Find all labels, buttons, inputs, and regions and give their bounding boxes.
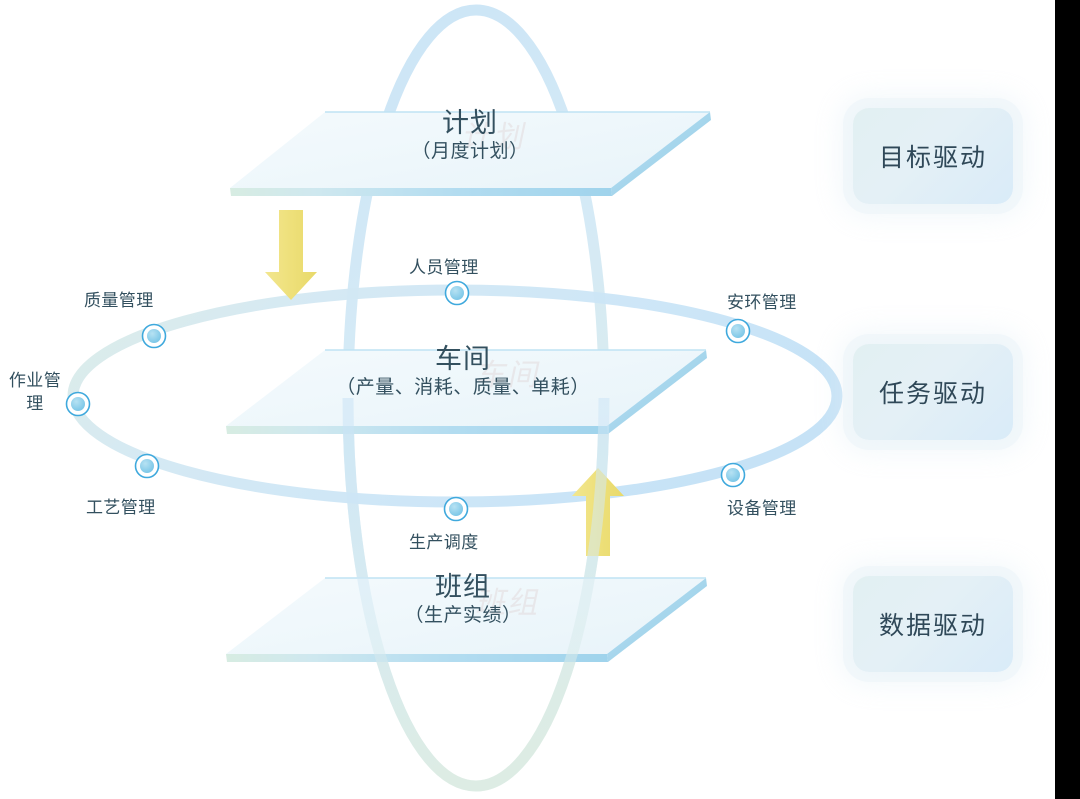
- plane-plan-title: 计划: [320, 108, 620, 139]
- driver-pill-task[interactable]: 任务驱动: [853, 344, 1013, 440]
- node-label-process[interactable]: 工艺管理: [86, 493, 156, 518]
- node-marker-safety[interactable]: [727, 320, 750, 343]
- node-label-personnel[interactable]: 人员管理: [409, 253, 479, 278]
- plane-plan-subtitle: （月度计划）: [320, 141, 620, 163]
- plane-workshop-title: 车间: [313, 344, 613, 375]
- node-marker-process[interactable]: [136, 455, 159, 478]
- plane-title-workshop: 车间 （产量、消耗、质量、单耗）: [313, 344, 613, 399]
- plane-title-plan: 计划 （月度计划）: [320, 108, 620, 163]
- right-edge-bar: [1055, 0, 1080, 799]
- node-marker-personnel[interactable]: [446, 282, 469, 305]
- node-marker-quality[interactable]: [143, 325, 166, 348]
- node-marker-operation[interactable]: [67, 393, 90, 416]
- node-label-operation[interactable]: 作业管理: [4, 370, 66, 416]
- driver-label-data: 数据驱动: [879, 606, 987, 642]
- plane-team-title: 班组: [313, 572, 613, 603]
- node-label-safety[interactable]: 安环管理: [727, 288, 797, 313]
- node-label-equipment[interactable]: 设备管理: [727, 494, 797, 519]
- node-label-quality[interactable]: 质量管理: [84, 286, 154, 311]
- driver-label-task: 任务驱动: [879, 374, 987, 410]
- driver-pill-data[interactable]: 数据驱动: [853, 576, 1013, 672]
- down-arrow: [265, 210, 317, 300]
- plane-team-subtitle: （生产实绩）: [313, 605, 613, 627]
- node-marker-equipment[interactable]: [722, 464, 745, 487]
- node-label-scheduling[interactable]: 生产调度: [409, 528, 479, 553]
- plane-workshop-subtitle: （产量、消耗、质量、单耗）: [313, 377, 613, 399]
- diagram-canvas: 计划 车间 班组 计划 （月度计划） 车间 （产量、消耗、质量、单耗） 班组 （…: [0, 0, 1080, 799]
- node-marker-scheduling[interactable]: [445, 498, 468, 521]
- plane-title-team: 班组 （生产实绩）: [313, 572, 613, 627]
- driver-pill-goal[interactable]: 目标驱动: [853, 108, 1013, 204]
- driver-label-goal: 目标驱动: [879, 138, 987, 174]
